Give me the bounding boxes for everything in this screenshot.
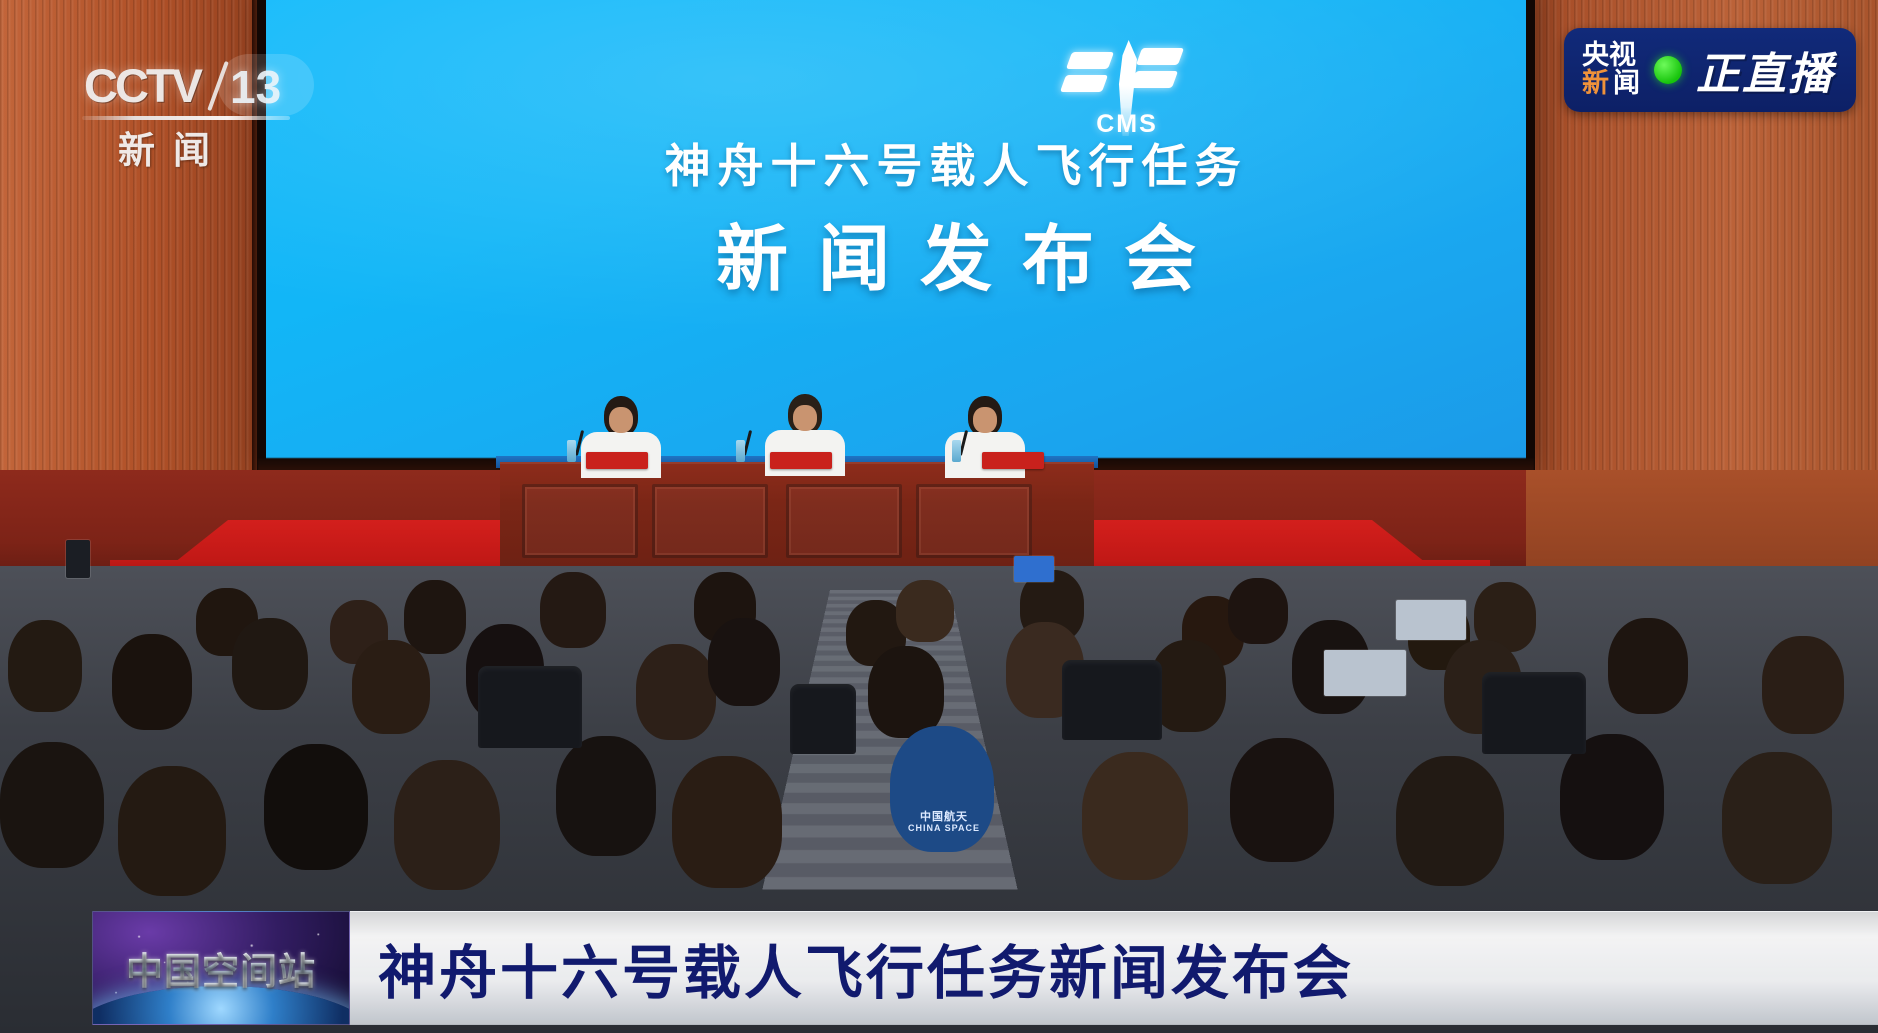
lower-third: 中国空间站 神舟十六号载人飞行任务新闻发布会 [0,905,1878,1033]
emblem-label: 中国空间站 [126,941,316,995]
nameplate-right [982,452,1044,469]
audience-phone-1 [1014,556,1054,582]
audience-phone-2 [66,540,90,578]
live-dot-icon [1654,56,1682,84]
cctv13-channel-bug: CCTV 13 新闻 [78,58,310,168]
source-line-2-rest: 闻 [1613,70,1640,98]
live-status-badge: 央视 新 闻 正直播 [1564,28,1856,112]
cctv-sub-label: 新闻 [118,120,228,174]
nameplate-center [770,452,832,469]
water-bottle-right [952,440,961,462]
cctv-wordmark: CCTV [84,58,200,113]
audience-chair-2 [1062,660,1162,740]
screen-title-line-2: 新闻发布会 [266,200,1526,305]
nameplate-left [586,452,648,469]
live-status-text: 正直播 [1696,38,1834,102]
audience-chair-4 [790,684,856,754]
china-space-station-emblem: 中国空间站 [92,911,350,1025]
audience-chair-3 [1482,672,1586,754]
source-line-2-accent: 新 [1582,70,1609,98]
lower-third-bar: 神舟十六号载人飞行任务新闻发布会 [350,911,1878,1025]
audience-jacket-badge: 中国航天 CHINA SPACE [886,812,1002,833]
audience-laptop-1 [1324,650,1406,696]
audience-chair-1 [478,666,582,748]
water-bottle-center [736,440,745,462]
screen-title-line-1: 神舟十六号载人飞行任务 [266,130,1526,196]
cms-logo: CMS [1032,38,1222,139]
water-bottle-left [567,440,576,462]
cctv-news-source-mark: 央视 新 闻 [1582,42,1640,97]
cms-rocket-mark-icon [1067,38,1187,116]
podium-table [500,462,1094,580]
broadcast-frame: CMS 神舟十六号载人飞行任务 新闻发布会 [0,0,1878,1033]
stage-led-screen: CMS 神舟十六号载人飞行任务 新闻发布会 [266,0,1526,466]
cctv-channel-number: 13 [230,60,281,114]
lower-third-headline: 神舟十六号载人飞行任务新闻发布会 [350,926,1354,1010]
audience-laptop-2 [1396,600,1466,640]
source-line-1: 央视 [1582,42,1636,70]
